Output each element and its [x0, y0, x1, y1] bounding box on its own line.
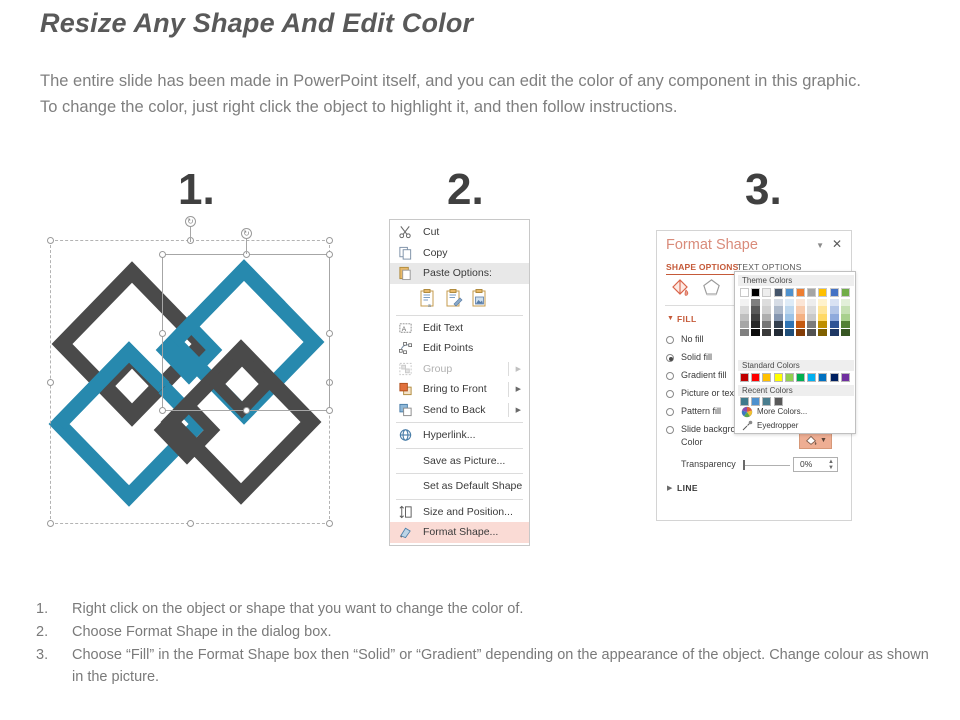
- theme-color-swatch[interactable]: [751, 288, 760, 297]
- theme-color-swatch[interactable]: [807, 321, 816, 328]
- recent-color-swatch[interactable]: [774, 397, 783, 406]
- inner-handle-w[interactable]: [159, 330, 166, 337]
- transparency-value: 0%: [800, 459, 812, 469]
- theme-color-swatch[interactable]: [841, 329, 850, 336]
- theme-color-swatch[interactable]: [796, 288, 805, 297]
- eyedropper-link[interactable]: Eyedropper: [757, 421, 798, 430]
- inner-handle-ne[interactable]: [326, 251, 333, 258]
- menu-separator: [396, 422, 523, 423]
- theme-color-swatch[interactable]: [785, 314, 794, 321]
- transparency-slider-thumb[interactable]: [743, 460, 745, 470]
- paste-options-row[interactable]: a: [390, 284, 529, 313]
- theme-color-swatch[interactable]: [774, 314, 783, 321]
- theme-color-swatch[interactable]: [830, 306, 839, 313]
- radio-no-fill[interactable]: No fill: [681, 334, 704, 344]
- line-group-caret-icon[interactable]: ▶: [667, 484, 672, 492]
- line-group-label: LINE: [677, 483, 698, 493]
- context-menu-label: Paste Options:: [423, 267, 492, 279]
- theme-color-swatch[interactable]: [830, 329, 839, 336]
- theme-color-swatch[interactable]: [785, 306, 794, 313]
- step-number-3: 3.: [745, 168, 782, 212]
- theme-color-swatch[interactable]: [762, 329, 771, 336]
- selection-handle-s[interactable]: [187, 520, 194, 527]
- selection-handle-w[interactable]: [47, 379, 54, 386]
- theme-color-swatch[interactable]: [785, 288, 794, 297]
- chevron-down-icon[interactable]: ▼: [820, 437, 827, 444]
- context-menu-item-format-shape[interactable]: Format Shape...: [390, 522, 529, 543]
- theme-color-swatch[interactable]: [762, 314, 771, 321]
- theme-color-swatch[interactable]: [830, 288, 839, 297]
- rotation-stem-outer: [190, 226, 191, 242]
- standard-color-swatch[interactable]: [762, 373, 771, 382]
- theme-color-swatch[interactable]: [841, 314, 850, 321]
- theme-color-swatch[interactable]: [751, 299, 760, 306]
- context-menu-label: Save as Picture...: [423, 455, 505, 467]
- inner-handle-e[interactable]: [326, 330, 333, 337]
- instruction-row: 3. Choose “Fill” in the Format Shape box…: [36, 644, 941, 688]
- scissors-icon: [398, 225, 413, 240]
- standard-color-swatch[interactable]: [740, 373, 749, 382]
- svg-text:a: a: [428, 303, 431, 308]
- context-menu-item-copy[interactable]: Copy: [390, 243, 529, 264]
- theme-color-swatch[interactable]: [807, 288, 816, 297]
- context-menu-item-cut[interactable]: Cut: [390, 222, 529, 243]
- send-back-icon: [398, 402, 413, 417]
- radio-indicator: [666, 336, 674, 344]
- fill-bucket-icon[interactable]: [669, 276, 691, 303]
- standard-color-swatch[interactable]: [751, 373, 760, 382]
- eyedropper-icon: [741, 419, 753, 431]
- close-icon[interactable]: ✕: [832, 237, 842, 251]
- format-shape-title: Format Shape: [666, 237, 758, 253]
- context-menu-item-send-to-back[interactable]: Send to Back ▶: [390, 400, 529, 421]
- radio-indicator: [666, 426, 674, 434]
- theme-color-swatch[interactable]: [762, 299, 771, 306]
- context-menu-item-bring-to-front[interactable]: Bring to Front ▶: [390, 379, 529, 400]
- theme-color-swatch[interactable]: [818, 329, 827, 336]
- copy-icon: [398, 245, 413, 260]
- theme-color-swatch[interactable]: [830, 299, 839, 306]
- radio-label: Solid fill: [681, 352, 712, 362]
- chevron-right-icon[interactable]: ▶: [516, 406, 521, 414]
- instruction-text: Choose Format Shape in the dialog box.: [72, 621, 941, 643]
- format-shape-icon: [398, 525, 413, 540]
- submenu-divider: [508, 382, 509, 397]
- standard-color-swatch[interactable]: [818, 373, 827, 382]
- standard-color-swatch[interactable]: [785, 373, 794, 382]
- inner-handle-sw[interactable]: [159, 407, 166, 414]
- chevron-down-icon[interactable]: ▼: [816, 241, 824, 250]
- theme-color-swatch[interactable]: [785, 329, 794, 336]
- context-menu-label: Size and Position...: [423, 506, 513, 518]
- submenu-divider: [508, 362, 509, 377]
- theme-color-swatch[interactable]: [740, 329, 749, 336]
- instruction-number: 2.: [36, 621, 72, 643]
- menu-separator: [396, 448, 523, 449]
- theme-color-swatch[interactable]: [796, 314, 805, 321]
- context-menu-label: Copy: [423, 247, 448, 259]
- transparency-label: Transparency: [681, 459, 736, 469]
- size-position-icon: [398, 504, 413, 519]
- radio-indicator: [666, 408, 674, 416]
- theme-color-swatch[interactable]: [818, 306, 827, 313]
- theme-color-swatch[interactable]: [774, 299, 783, 306]
- selection-handle-ne[interactable]: [326, 237, 333, 244]
- context-menu-label: Format Shape...: [423, 526, 498, 538]
- context-menu-label: Hyperlink...: [423, 429, 476, 441]
- shape-context-menu[interactable]: Cut Copy Paste Options: a: [389, 219, 530, 546]
- inner-handle-nw[interactable]: [159, 251, 166, 258]
- theme-color-swatch[interactable]: [751, 329, 760, 336]
- menu-separator: [396, 473, 523, 474]
- transparency-slider-track[interactable]: [745, 465, 790, 466]
- context-menu-label: Cut: [423, 226, 439, 238]
- theme-color-swatch[interactable]: [762, 306, 771, 313]
- edit-text-icon: A: [398, 320, 413, 335]
- shape-selection-panel: ↻ ↻: [44, 232, 334, 527]
- group-icon: [398, 361, 413, 376]
- theme-color-swatch[interactable]: [818, 321, 827, 328]
- standard-colors-label: Standard Colors: [738, 360, 854, 371]
- more-colors-link[interactable]: More Colors...: [757, 407, 807, 416]
- context-menu-item-edit-text[interactable]: A Edit Text: [390, 318, 529, 339]
- hyperlink-icon: [398, 428, 413, 443]
- radio-pattern-fill[interactable]: Pattern fill: [681, 406, 721, 416]
- radio-solid-fill[interactable]: Solid fill: [681, 352, 712, 362]
- theme-color-swatch[interactable]: [841, 288, 850, 297]
- color-label: Color: [681, 437, 703, 447]
- recent-colors-label: Recent Colors: [738, 385, 854, 396]
- context-menu-item-save-as-picture[interactable]: Save as Picture...: [390, 451, 529, 472]
- context-menu-item-set-default-shape[interactable]: Set as Default Shape: [390, 476, 529, 497]
- bring-front-icon: [398, 382, 413, 397]
- chevron-right-icon: ▶: [516, 365, 521, 373]
- theme-color-swatch[interactable]: [740, 299, 749, 306]
- theme-color-swatch[interactable]: [751, 321, 760, 328]
- transparency-value-field[interactable]: 0% ▲▼: [793, 457, 838, 472]
- inner-handle-se[interactable]: [326, 407, 333, 414]
- theme-color-swatch[interactable]: [818, 288, 827, 297]
- theme-color-swatch[interactable]: [830, 314, 839, 321]
- instruction-text: Choose “Fill” in the Format Shape box th…: [72, 644, 941, 688]
- theme-color-swatch[interactable]: [830, 321, 839, 328]
- theme-color-swatch[interactable]: [785, 321, 794, 328]
- radio-gradient-fill[interactable]: Gradient fill: [681, 370, 727, 380]
- instruction-number: 3.: [36, 644, 72, 688]
- context-menu-item-hyperlink[interactable]: Hyperlink...: [390, 425, 529, 446]
- radio-indicator: [666, 390, 674, 398]
- instruction-number: 1.: [36, 598, 72, 620]
- standard-color-swatch[interactable]: [774, 373, 783, 382]
- theme-color-swatch[interactable]: [841, 306, 850, 313]
- radio-indicator: [666, 354, 674, 362]
- submenu-divider: [508, 403, 509, 418]
- theme-color-swatch[interactable]: [807, 314, 816, 321]
- fill-bucket-icon: [804, 433, 818, 447]
- rotation-handle-outer[interactable]: ↻: [185, 216, 196, 227]
- context-menu-label: Send to Back: [423, 404, 485, 416]
- theme-color-swatch[interactable]: [841, 299, 850, 306]
- format-shape-pane: Format Shape ▼ ✕ SHAPE OPTIONS TEXT OPTI…: [656, 230, 852, 521]
- radio-indicator: [666, 372, 674, 380]
- theme-color-swatch[interactable]: [774, 288, 783, 297]
- context-menu-label: Edit Text: [423, 322, 463, 334]
- standard-color-swatch[interactable]: [830, 373, 839, 382]
- color-wheel-icon: [741, 405, 753, 417]
- fill-group-label: FILL: [677, 314, 697, 324]
- chevron-right-icon[interactable]: ▶: [516, 385, 521, 393]
- theme-color-swatch[interactable]: [785, 299, 794, 306]
- paste-merge-formatting-icon[interactable]: [446, 289, 463, 308]
- spinner-icon[interactable]: ▲▼: [827, 459, 835, 472]
- rotation-stem-inner: [246, 238, 247, 254]
- standard-color-swatch[interactable]: [841, 373, 850, 382]
- inner-handle-s[interactable]: [243, 407, 250, 414]
- context-menu-item-edit-points[interactable]: Edit Points: [390, 338, 529, 359]
- theme-color-swatch[interactable]: [796, 329, 805, 336]
- theme-color-swatch[interactable]: [740, 306, 749, 313]
- theme-color-swatch[interactable]: [818, 299, 827, 306]
- step-number-2: 2.: [447, 168, 484, 212]
- paste-icon: [398, 266, 413, 281]
- theme-color-swatch[interactable]: [818, 314, 827, 321]
- theme-color-swatch[interactable]: [762, 321, 771, 328]
- menu-separator: [396, 499, 523, 500]
- theme-color-swatch[interactable]: [796, 306, 805, 313]
- fill-group-caret-icon[interactable]: ▼: [667, 315, 674, 322]
- selection-handle-nw[interactable]: [47, 237, 54, 244]
- theme-color-swatch[interactable]: [807, 299, 816, 306]
- standard-color-swatch[interactable]: [796, 373, 805, 382]
- theme-color-swatch[interactable]: [796, 299, 805, 306]
- theme-color-swatch[interactable]: [751, 306, 760, 313]
- context-menu-item-size-and-position[interactable]: Size and Position...: [390, 502, 529, 523]
- tab-shape-options[interactable]: SHAPE OPTIONS: [666, 262, 739, 272]
- theme-color-swatch[interactable]: [774, 321, 783, 328]
- radio-label: No fill: [681, 334, 704, 344]
- rotation-handle-inner[interactable]: ↻: [241, 228, 252, 239]
- inner-selection-box[interactable]: [162, 254, 330, 411]
- instruction-row: 2. Choose Format Shape in the dialog box…: [36, 621, 941, 643]
- context-menu-label: Set as Default Shape: [423, 480, 522, 492]
- pentagon-effects-icon[interactable]: [701, 277, 722, 303]
- theme-color-swatch[interactable]: [807, 329, 816, 336]
- context-menu-label: Bring to Front: [423, 383, 487, 395]
- theme-color-swatch[interactable]: [807, 306, 816, 313]
- paste-picture-icon[interactable]: [472, 289, 489, 308]
- theme-color-swatch[interactable]: [762, 288, 771, 297]
- theme-color-swatch[interactable]: [841, 321, 850, 328]
- context-menu-label: Group: [423, 363, 452, 375]
- theme-color-swatch[interactable]: [796, 321, 805, 328]
- context-menu-item-paste-options[interactable]: Paste Options:: [390, 263, 529, 284]
- theme-color-swatch[interactable]: [751, 314, 760, 321]
- menu-separator: [396, 315, 523, 316]
- page-subtitle: The entire slide has been made in PowerP…: [40, 68, 870, 120]
- page-title: Resize Any Shape And Edit Color: [40, 8, 473, 39]
- theme-color-swatch[interactable]: [774, 329, 783, 336]
- instructions-list: 1. Right click on the object or shape th…: [36, 598, 941, 689]
- color-picker-flyout[interactable]: Theme Colors Standard Colors Recent Colo…: [734, 271, 856, 434]
- selection-handle-sw[interactable]: [47, 520, 54, 527]
- edit-points-icon: [398, 341, 413, 356]
- selection-handle-se[interactable]: [326, 520, 333, 527]
- theme-color-swatch[interactable]: [740, 321, 749, 328]
- theme-color-swatch[interactable]: [740, 314, 749, 321]
- paste-keep-formatting-icon[interactable]: a: [420, 289, 437, 308]
- radio-label: Gradient fill: [681, 370, 727, 380]
- standard-color-swatch[interactable]: [807, 373, 816, 382]
- recent-color-swatch[interactable]: [762, 397, 771, 406]
- svg-text:A: A: [402, 326, 407, 333]
- context-menu-item-group: Group ▶: [390, 359, 529, 380]
- instruction-row: 1. Right click on the object or shape th…: [36, 598, 941, 620]
- theme-colors-label: Theme Colors: [738, 275, 854, 286]
- step-number-1: 1.: [178, 168, 215, 212]
- instruction-text: Right click on the object or shape that …: [72, 598, 941, 620]
- theme-color-swatch[interactable]: [774, 306, 783, 313]
- radio-label: Pattern fill: [681, 406, 721, 416]
- theme-color-swatch[interactable]: [740, 288, 749, 297]
- context-menu-label: Edit Points: [423, 342, 473, 354]
